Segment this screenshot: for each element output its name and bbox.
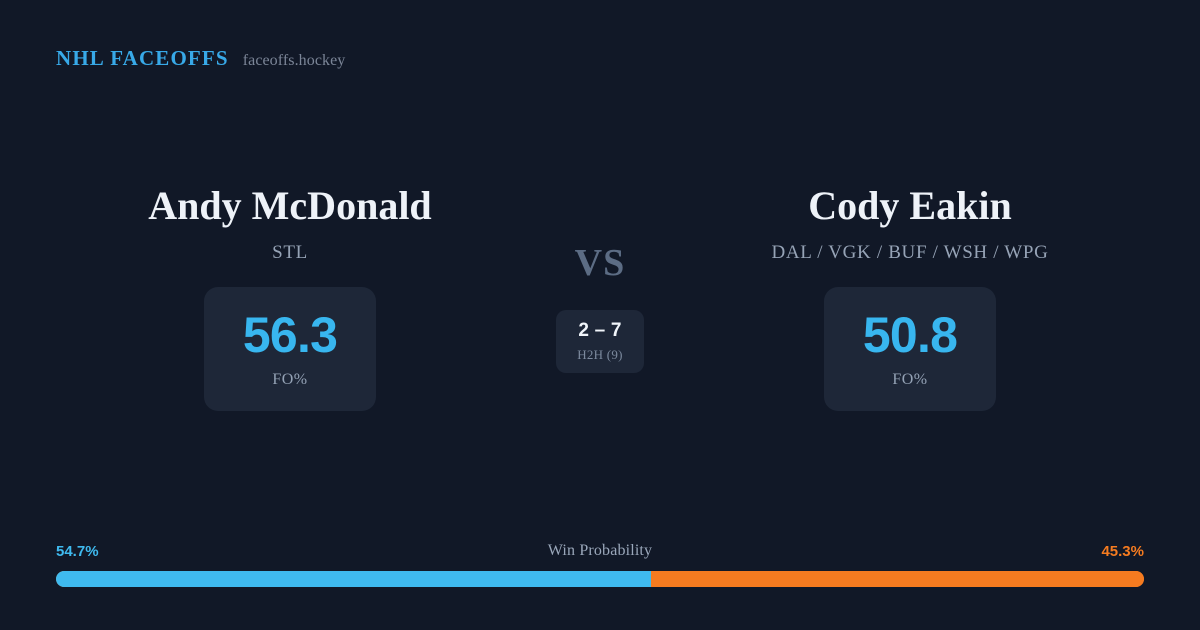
player-right-name: Cody Eakin [808, 186, 1011, 226]
player-left-stat-value: 56.3 [243, 310, 337, 360]
site-domain: faceoffs.hockey [243, 52, 346, 70]
player-right-stat-value: 50.8 [863, 310, 957, 360]
head-to-head-label: H2H (9) [577, 347, 623, 363]
win-probability-section: 54.7% Win Probability 45.3% [56, 540, 1144, 587]
player-left-teams: STL [272, 242, 308, 264]
win-probability-title: Win Probability [56, 542, 1144, 560]
win-probability-bar-right [651, 571, 1144, 587]
matchup-section: Andy McDonald STL 56.3 FO% VS 2 – 7 H2H … [0, 186, 1200, 436]
site-header: NHL FACEOFFS faceoffs.hockey [56, 46, 345, 71]
player-right: Cody Eakin DAL / VGK / BUF / WSH / WPG 5… [630, 186, 1190, 411]
win-probability-labels: 54.7% Win Probability 45.3% [56, 540, 1144, 562]
win-probability-bar-left [56, 571, 651, 587]
player-right-stat-card: 50.8 FO% [824, 287, 996, 411]
win-probability-bar [56, 571, 1144, 587]
player-left-name: Andy McDonald [148, 186, 431, 226]
brand-title: NHL FACEOFFS [56, 46, 229, 71]
player-left-stat-card: 56.3 FO% [204, 287, 376, 411]
player-right-teams: DAL / VGK / BUF / WSH / WPG [772, 242, 1049, 264]
versus-label: VS [575, 244, 626, 282]
head-to-head-score: 2 – 7 [578, 321, 621, 340]
player-right-stat-label: FO% [892, 371, 927, 389]
player-left: Andy McDonald STL 56.3 FO% [10, 186, 570, 411]
player-left-stat-label: FO% [272, 371, 307, 389]
